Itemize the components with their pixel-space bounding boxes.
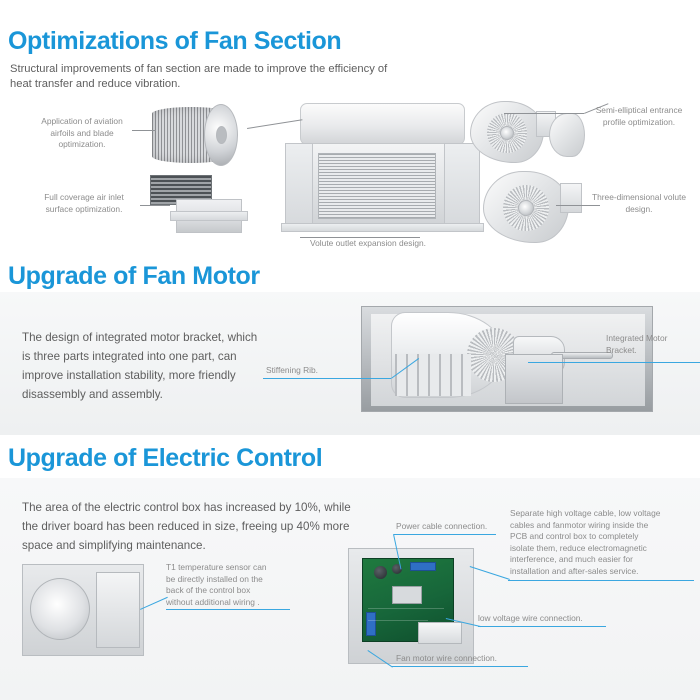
unit-top-cylinder-graphic: [300, 103, 465, 145]
leader-line-stiffening-rib: [263, 378, 391, 379]
stiffening-ribs-graphic: [395, 354, 471, 396]
air-inlet-flange-graphic: [170, 211, 248, 221]
callout-air-inlet-surface: Full coverage air inlet surface optimiza…: [26, 192, 142, 215]
terminal-block-graphic: [418, 622, 462, 644]
heat-exchanger-coil-graphic: [318, 153, 436, 219]
underline-separate-high-voltage-cable: [508, 580, 694, 581]
indoor-unit-control-panel-graphic: [96, 572, 140, 648]
callout-stiffening-rib: Stiffening Rib.: [266, 365, 376, 377]
section-intro-fan-section: Structural improvements of fan section a…: [10, 62, 410, 92]
leader-line-air-inlet: [140, 205, 170, 206]
pcb-trace-secondary-graphic: [368, 620, 428, 621]
volute-hub-upper-graphic: [500, 126, 514, 140]
indoor-unit-illustration: [22, 558, 162, 664]
pcb-power-connector-graphic: [410, 562, 436, 571]
underline-fan-motor-wire-connection: [392, 666, 528, 667]
leader-line-semi-elliptical: [504, 113, 584, 114]
callout-semi-elliptical-entrance: Semi-elliptical entrance profile optimiz…: [580, 105, 698, 128]
callout-fan-motor-wire-connection: Fan motor wire connection.: [396, 653, 536, 665]
section-title-fan-section: Optimizations of Fan Section: [8, 27, 341, 56]
callout-volute-outlet: Volute outlet expansion design.: [288, 238, 448, 250]
indoor-unit-fan-opening-graphic: [30, 578, 90, 640]
callout-three-dimensional-volute: Three-dimensional volute design.: [580, 192, 698, 215]
pcb-trace-graphic: [368, 608, 444, 609]
pcb-low-voltage-connector-graphic: [366, 612, 376, 636]
unit-right-panel-graphic: [444, 143, 480, 228]
callout-integrated-motor-bracket: Integrated Motor Bracket.: [606, 333, 698, 356]
unit-left-panel-graphic: [285, 143, 313, 228]
unit-base-graphic: [281, 223, 484, 232]
section-title-electric-control: Upgrade of Electric Control: [8, 444, 322, 473]
section-intro-fan-motor: The design of integrated motor bracket, …: [22, 328, 262, 404]
underline-power-cable-connection: [394, 534, 496, 535]
impeller-hub-graphic: [216, 126, 227, 144]
callout-low-voltage-wire-connection: low voltage wire connection.: [478, 613, 618, 625]
callout-aviation-airfoils: Application of aviation airfoils and bla…: [24, 116, 140, 151]
volute-hub-lower-graphic: [518, 200, 534, 216]
callout-t1-temperature-sensor: T1 temperature sensor can be directly in…: [166, 562, 294, 608]
underline-t1-temperature-sensor: [166, 609, 290, 610]
callout-power-cable-connection: Power cable connection.: [396, 521, 512, 533]
section-title-fan-motor: Upgrade of Fan Motor: [8, 262, 260, 291]
section-intro-electric-control: The area of the electric control box has…: [22, 498, 352, 555]
infographic-page: Optimizations of Fan Section Structural …: [0, 0, 700, 700]
leader-line-integrated-motor-bracket: [528, 362, 700, 363]
underline-low-voltage-wire-connection: [478, 626, 606, 627]
pcb-chip-graphic: [392, 586, 422, 604]
callout-separate-high-voltage-cable: Separate high voltage cable, low voltage…: [510, 508, 700, 577]
pcb-capacitor-graphic: [374, 566, 387, 579]
volute-outlet-lower-graphic: [560, 183, 582, 213]
